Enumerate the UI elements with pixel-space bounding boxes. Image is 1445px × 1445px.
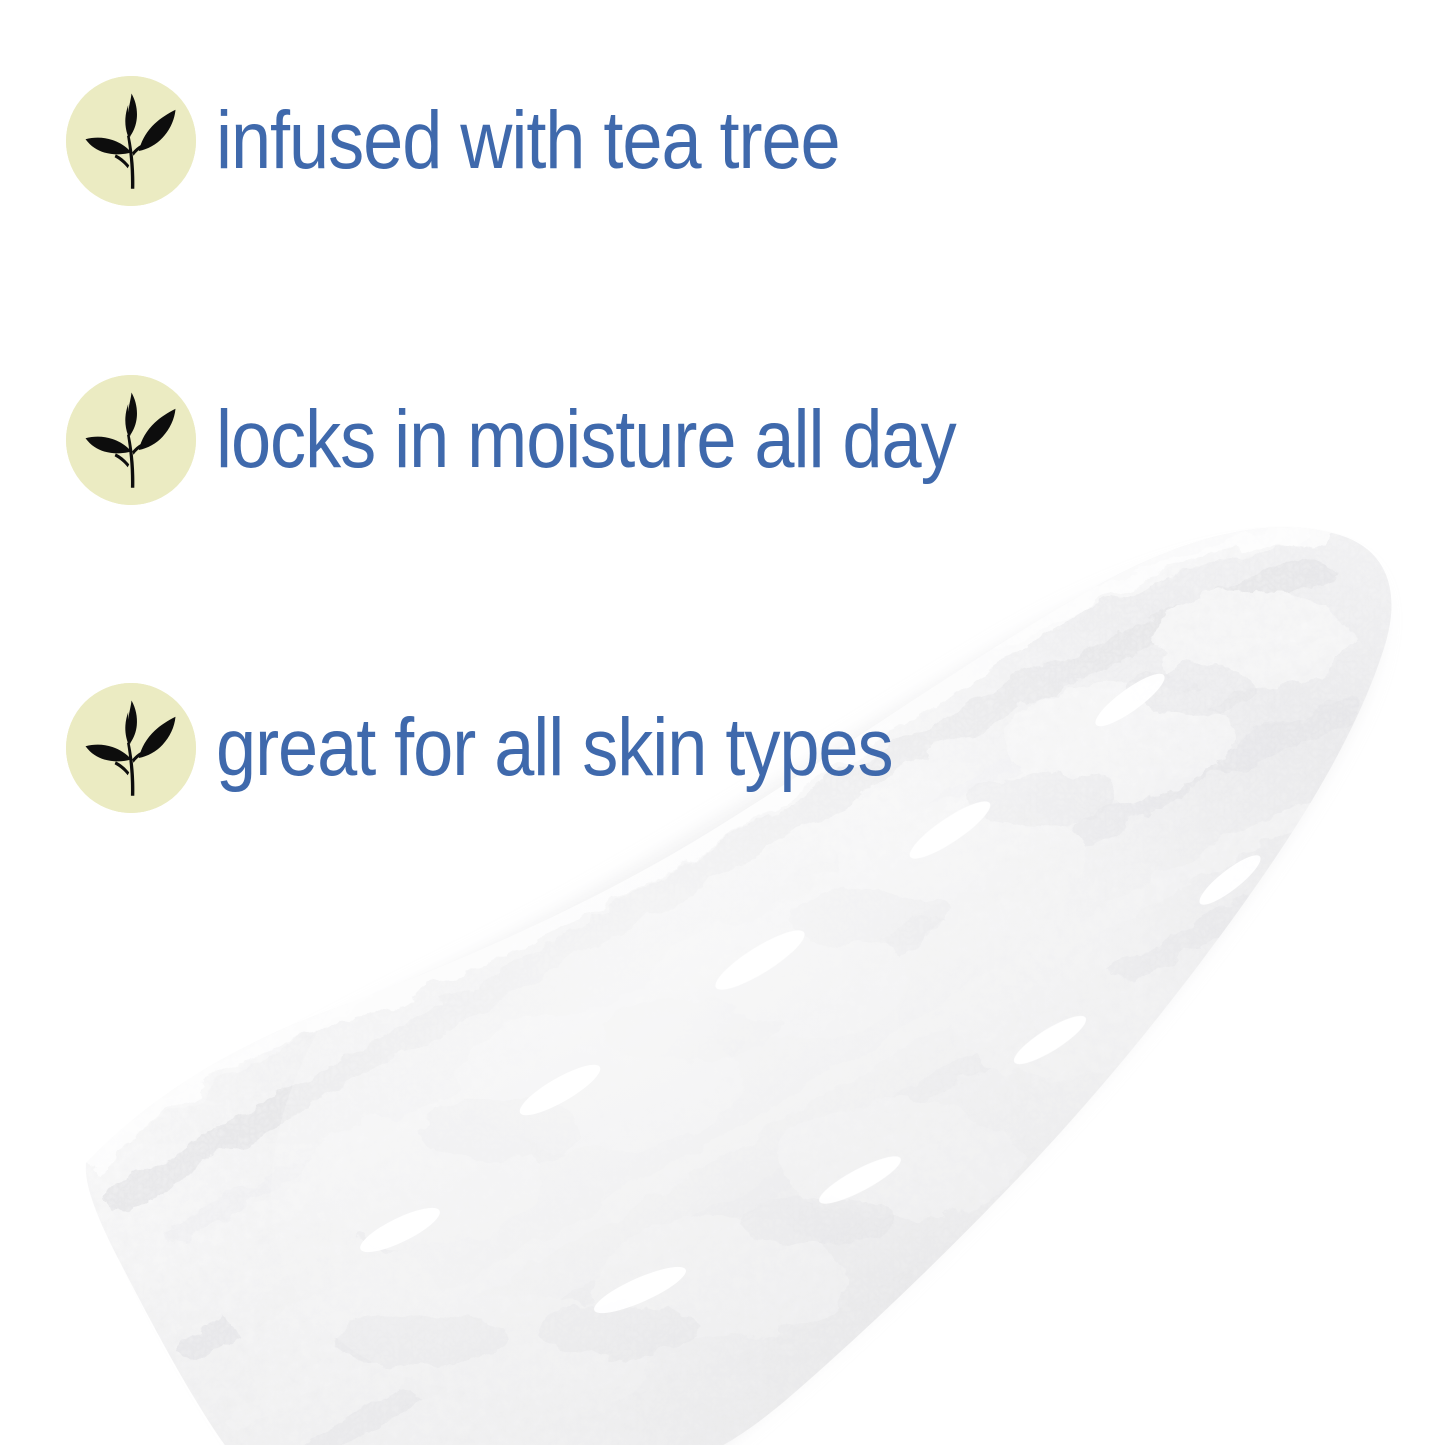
tea-leaf-icon (66, 683, 196, 813)
benefit-label: infused with tea tree (216, 100, 840, 182)
benefit-label: locks in moisture all day (216, 399, 956, 481)
cream-swatch-shadow (100, 535, 1374, 1445)
benefit-label: great for all skin types (216, 707, 893, 789)
benefit-row: infused with tea tree (66, 76, 925, 206)
benefit-row: great for all skin types (66, 683, 985, 813)
product-benefits-canvas: infused with tea tree locks in moisture … (0, 0, 1445, 1445)
tea-leaf-icon (66, 76, 196, 206)
tea-leaf-icon (66, 375, 196, 505)
benefit-row: locks in moisture all day (66, 375, 1056, 505)
